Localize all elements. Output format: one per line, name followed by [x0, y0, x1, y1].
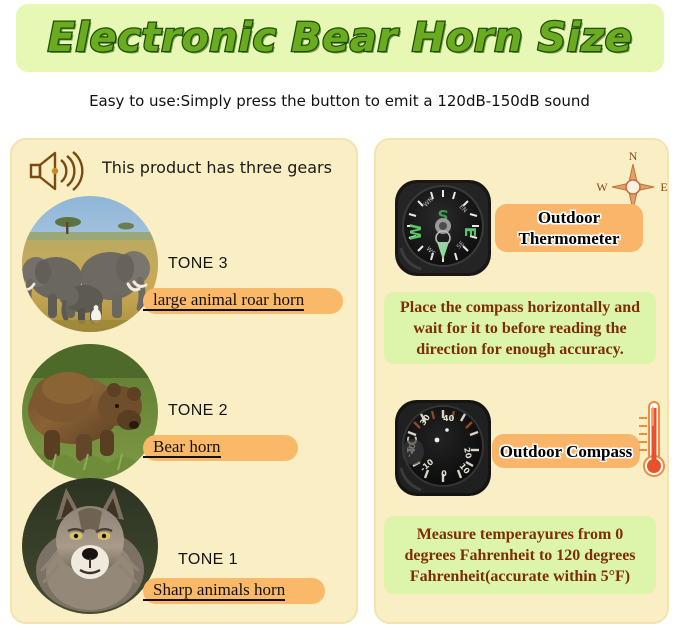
- thermometer-dial-photo: 30 40 20 10 0 -10 -20 °C: [391, 396, 495, 500]
- outdoor-thermometer-pill: OutdoorThermometer: [495, 204, 643, 252]
- page-title: Electronic Bear Horn Size: [48, 15, 633, 61]
- label-line-2: Thermometer: [518, 229, 619, 248]
- svg-text:E: E: [461, 227, 479, 237]
- label-line-1: Outdoor: [538, 208, 600, 227]
- bear-photo: [22, 344, 158, 480]
- temperature-range-note: Measure temperayures from 0 degrees Fahr…: [384, 516, 656, 594]
- outdoor-compass-pill: Outdoor Compass: [492, 434, 640, 468]
- thermometer-icon: [637, 398, 665, 484]
- tone-label-3: TONE 3: [168, 255, 228, 273]
- tone-label-1: TONE 1: [178, 551, 238, 569]
- subtitle-text: Easy to use:Simply press the button to e…: [0, 92, 679, 110]
- three-gears-heading: This product has three gears: [102, 158, 332, 177]
- tone-description-pill-2: Bear horn: [143, 435, 298, 461]
- svg-text:0: 0: [441, 469, 448, 478]
- temperature-range-text: Measure temperayures from 0 degrees Fahr…: [390, 524, 650, 587]
- svg-text:40: 40: [443, 414, 455, 423]
- outdoor-thermometer-label: OutdoorThermometer: [518, 207, 619, 249]
- compass-instruction-text: Place the compass horizontally and wait …: [390, 297, 650, 360]
- infographic-page: Electronic Bear Horn Size Easy to use:Si…: [0, 0, 679, 631]
- tone-description-pill-3: large animal roar horn: [143, 288, 343, 314]
- tone-description-1: Sharp animals horn: [143, 581, 285, 601]
- wolf-photo: [22, 478, 158, 614]
- svg-text:W: W: [407, 223, 425, 240]
- compass-dial-photo: W E S WN EN WS SE: [391, 176, 495, 280]
- svg-text:W: W: [596, 180, 608, 194]
- speaker-icon: [28, 150, 90, 192]
- tone-label-2: TONE 2: [168, 402, 228, 420]
- svg-text:N: N: [629, 149, 638, 163]
- tone-description-pill-1: Sharp animals horn: [143, 578, 325, 604]
- svg-text:E: E: [660, 180, 667, 194]
- compass-instruction-note: Place the compass horizontally and wait …: [384, 292, 656, 364]
- title-banner: Electronic Bear Horn Size: [16, 4, 664, 72]
- outdoor-compass-label: Outdoor Compass: [500, 441, 632, 462]
- tone-description-3: large animal roar horn: [143, 291, 304, 311]
- elephant-photo: [22, 196, 158, 332]
- tone-description-2: Bear horn: [143, 438, 221, 458]
